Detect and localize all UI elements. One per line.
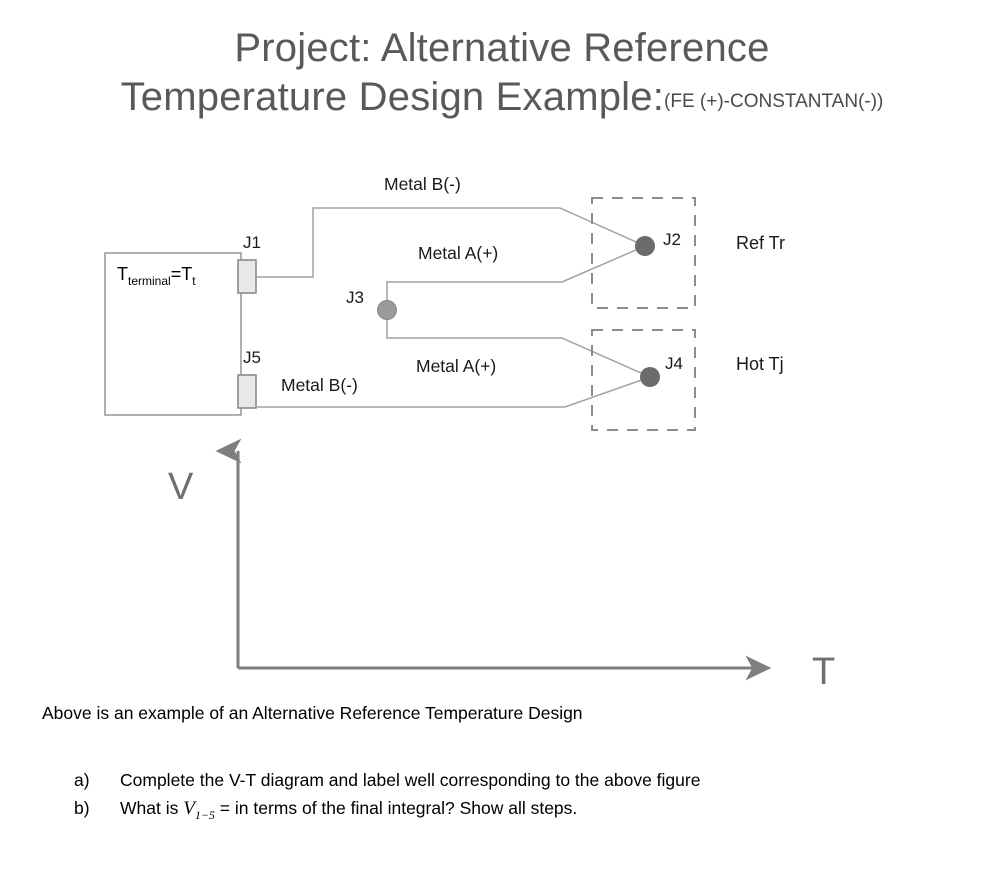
thermocouple-diagram: Tterminal=Tt J1 J5 J2 J4 J3 Metal B(-) M…: [0, 160, 1004, 690]
question-text-a: Complete the V-T diagram and label well …: [120, 766, 700, 794]
question-b-variable: V1−5: [183, 798, 215, 819]
question-b-prefix: What is: [120, 798, 183, 818]
junction-label-j3: J3: [346, 288, 364, 307]
terminal-label-sub-terminal: terminal: [128, 274, 171, 288]
junction-dot-j2: [635, 236, 655, 256]
junction-label-j1: J1: [243, 233, 261, 252]
question-item-a: a) Complete the V-T diagram and label we…: [74, 766, 954, 794]
title-suffix: (FE (+)-CONSTANTAN(-)): [664, 91, 883, 112]
caption-text: Above is an example of an Alternative Re…: [42, 703, 583, 724]
title-line-2: Temperature Design Example:(FE (+)-CONST…: [0, 73, 1004, 122]
title-line-2-text: Temperature Design Example:: [121, 75, 664, 119]
question-marker-a: a): [74, 766, 120, 794]
terminal-label-T1: T: [117, 264, 128, 284]
page-title: Project: Alternative Reference Temperatu…: [0, 24, 1004, 122]
junction-dot-j3: [378, 301, 397, 320]
zone-label-hot-tj: Hot Tj: [736, 354, 784, 374]
question-b-suffix: = in terms of the final integral? Show a…: [215, 798, 577, 818]
question-list: a) Complete the V-T diagram and label we…: [74, 766, 954, 826]
wire-label-metal-a-upper: Metal A(+): [418, 243, 498, 263]
question-item-b: b) What is V1−5 = in terms of the final …: [74, 794, 954, 825]
connector-pad-j5: [238, 375, 256, 408]
junction-dot-j4: [640, 367, 660, 387]
question-text-b: What is V1−5 = in terms of the final int…: [120, 794, 577, 825]
junction-label-j5: J5: [243, 348, 261, 367]
connector-pad-j1: [238, 260, 256, 293]
wire-label-metal-b-top: Metal B(-): [384, 174, 461, 194]
vt-axis-label-v: V: [168, 466, 194, 508]
title-line-1: Project: Alternative Reference: [0, 24, 1004, 73]
zone-label-ref-tr: Ref Tr: [736, 233, 785, 253]
wire-label-metal-a-lower: Metal A(+): [416, 356, 496, 376]
question-b-var-subscript: 1−5: [195, 808, 215, 822]
junction-label-j4: J4: [665, 354, 683, 373]
question-marker-b: b): [74, 794, 120, 822]
vt-axis-label-t: T: [812, 651, 835, 690]
junction-label-j2: J2: [663, 230, 681, 249]
question-b-var-base: V: [183, 798, 195, 819]
terminal-label-eq: =T: [171, 264, 193, 284]
wire-label-metal-b-bottom: Metal B(-): [281, 375, 358, 395]
